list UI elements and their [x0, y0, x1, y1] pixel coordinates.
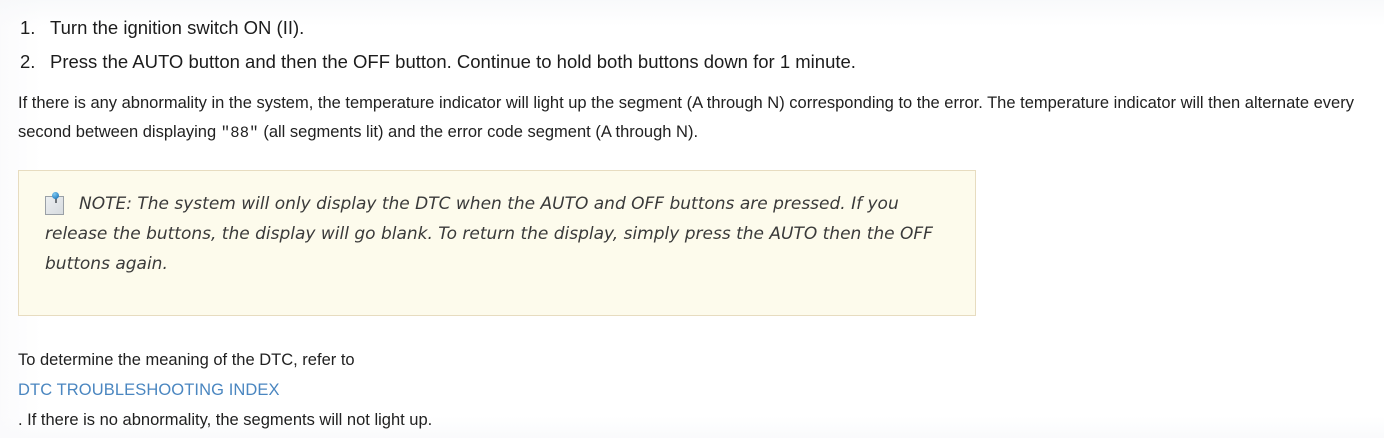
step-number: 1.: [20, 11, 46, 45]
note-pin-icon-head: [52, 192, 59, 199]
document-content: 1. Turn the ignition switch ON (II). 2. …: [0, 0, 1384, 435]
step-text: Press the AUTO button and then the OFF b…: [50, 51, 856, 72]
segment-code-value: "88": [221, 124, 259, 142]
dtc-troubleshooting-index-link[interactable]: DTC TROUBLESHOOTING INDEX: [18, 381, 280, 399]
abnormality-paragraph: If there is any abnormality in the syste…: [0, 89, 1384, 148]
dtc-reference-lead-in: To determine the meaning of the DTC, ref…: [0, 345, 1384, 375]
list-item: 1. Turn the ignition switch ON (II).: [0, 0, 1384, 45]
dtc-reference-closing: . If there is no abnormality, the segmen…: [0, 405, 1384, 435]
note-callout: NOTE: The system will only display the D…: [18, 170, 976, 316]
note-pin-icon: [45, 192, 65, 214]
note-paragraph: NOTE: The system will only display the D…: [45, 189, 955, 279]
procedure-step-list: 1. Turn the ignition switch ON (II). 2. …: [0, 0, 1384, 79]
dtc-reference-link-row: DTC TROUBLESHOOTING INDEX: [0, 375, 1384, 405]
step-number: 2.: [20, 45, 46, 79]
dtc-reference-block: To determine the meaning of the DTC, ref…: [0, 345, 1384, 435]
note-text: NOTE: The system will only display the D…: [45, 194, 933, 274]
abnormality-text-part2: (all segments lit) and the error code se…: [259, 123, 698, 141]
list-item: 2. Press the AUTO button and then the OF…: [0, 45, 1384, 79]
step-text: Turn the ignition switch ON (II).: [50, 17, 304, 38]
